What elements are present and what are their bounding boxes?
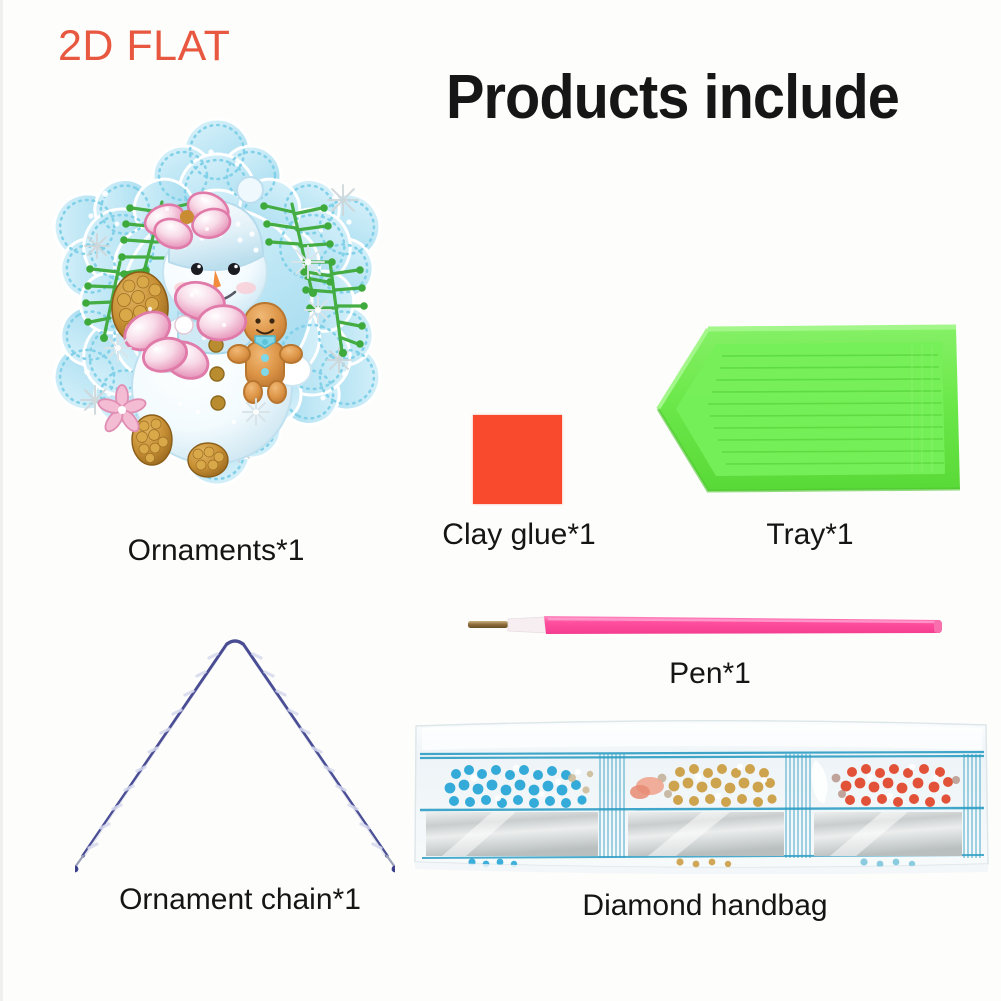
- pen-caption: Pen*1: [590, 657, 830, 691]
- left-edge-divider: [0, 0, 3, 1001]
- hanging-chain-icon: [75, 628, 395, 873]
- flat-badge-label: 2D FLAT: [58, 22, 230, 71]
- ornament-chain-caption: Ornament chain*1: [50, 883, 430, 917]
- tray-caption: Tray*1: [690, 518, 930, 552]
- clay-glue-caption: Clay glue*1: [400, 518, 638, 552]
- snowflake-ornament-icon: [12, 112, 422, 490]
- diamond-rhinestone-bag-icon: [412, 712, 990, 874]
- drill-pen-icon: [466, 612, 944, 644]
- clay-glue-icon: [473, 415, 562, 504]
- ornament-caption: Ornaments*1: [0, 534, 432, 568]
- diamond-handbag-caption: Diamond handbag: [440, 889, 970, 923]
- diamond-tray-icon: [650, 316, 968, 502]
- page-title: Products include: [446, 62, 899, 133]
- product-include-panel: 2D FLAT Products include: [0, 0, 1001, 1001]
